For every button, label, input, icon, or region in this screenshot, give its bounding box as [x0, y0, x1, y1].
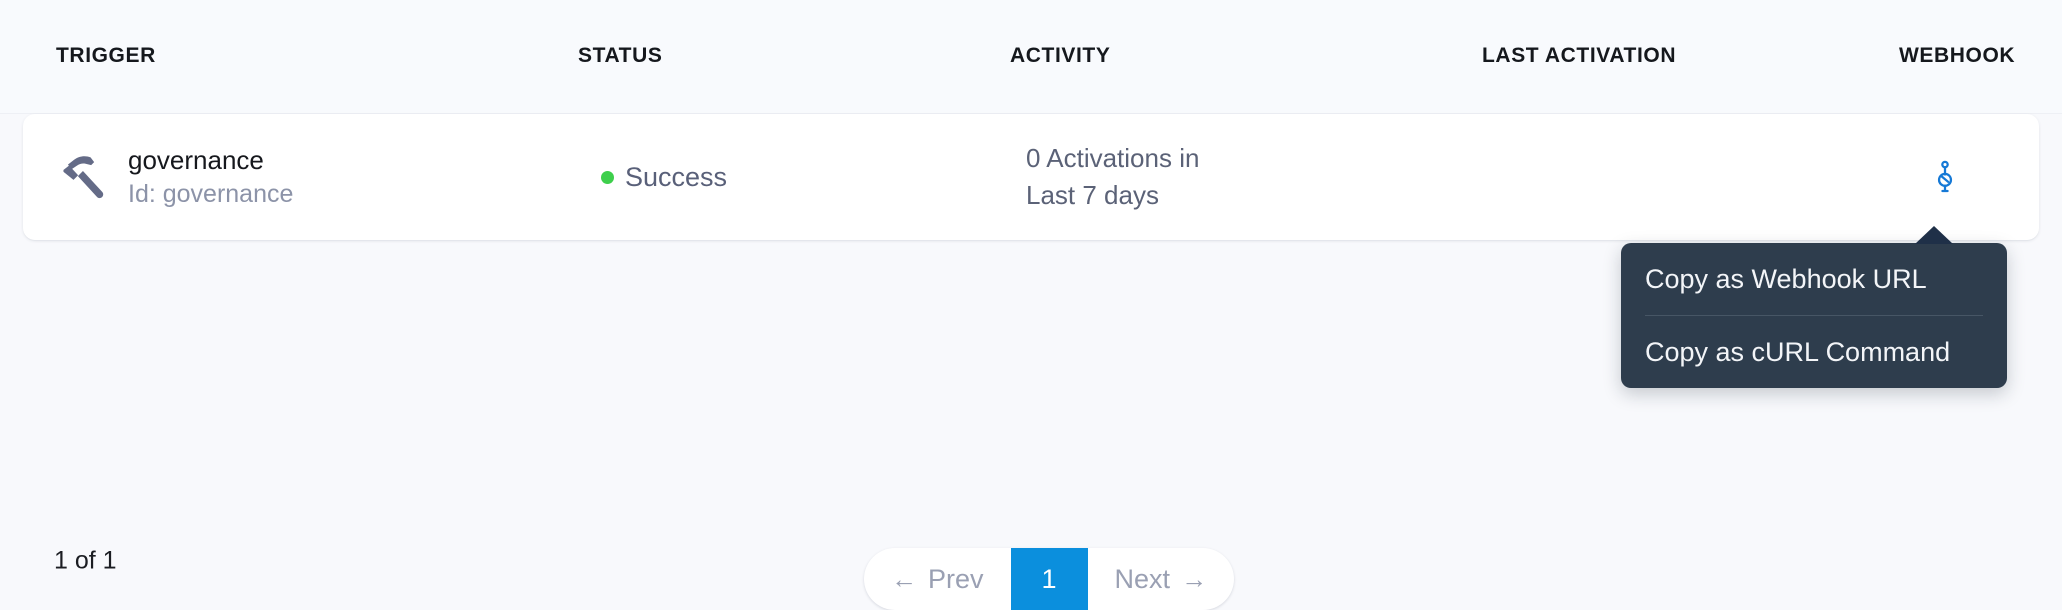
pagination-next-button[interactable]: Next →: [1088, 548, 1235, 610]
table-row[interactable]: governance Id: governance Success 0 Acti…: [23, 114, 2039, 240]
column-header-trigger: TRIGGER: [56, 44, 156, 68]
trigger-name: governance: [128, 143, 293, 177]
webhook-dropdown-menu: Copy as Webhook URL Copy as cURL Command: [1621, 243, 2007, 388]
pagination: ← Prev 1 Next →: [864, 548, 1234, 610]
menu-item-copy-curl-command[interactable]: Copy as cURL Command: [1621, 316, 2007, 388]
column-header-last-activation: LAST ACTIVATION: [1482, 44, 1676, 68]
pagination-prev-label: Prev: [928, 564, 984, 595]
pagination-page-number: 1: [1042, 564, 1057, 595]
webhooks-table-page: TRIGGER STATUS ACTIVITY LAST ACTIVATION …: [0, 0, 2062, 442]
column-header-status: STATUS: [578, 44, 662, 68]
table-header-row: TRIGGER STATUS ACTIVITY LAST ACTIVATION …: [0, 0, 2062, 114]
menu-item-copy-webhook-url[interactable]: Copy as Webhook URL: [1621, 243, 2007, 315]
status-label: Success: [625, 162, 727, 193]
status-cell: Success: [601, 114, 727, 240]
hammer-icon: [56, 149, 112, 205]
column-header-webhook: WEBHOOK: [1899, 44, 2015, 68]
pagination-page-1[interactable]: 1: [1011, 548, 1088, 610]
activity-count: 0 Activations in: [1026, 140, 1199, 177]
column-header-activity: ACTIVITY: [1010, 44, 1110, 68]
pagination-next-label: Next: [1115, 564, 1171, 595]
result-count-label: 1 of 1: [54, 547, 117, 576]
trigger-text-block: governance Id: governance: [128, 143, 293, 211]
webhook-icon[interactable]: [1928, 160, 1962, 194]
dropdown-arrow-icon: [1915, 226, 1953, 244]
activity-period: Last 7 days: [1026, 177, 1199, 214]
status-dot-icon: [601, 171, 614, 184]
trigger-cell: governance Id: governance: [56, 114, 293, 240]
webhook-button[interactable]: [1928, 114, 2008, 240]
pagination-prev-button[interactable]: ← Prev: [864, 548, 1011, 610]
arrow-right-icon: →: [1181, 564, 1207, 595]
arrow-left-icon: ←: [891, 564, 917, 595]
activity-cell: 0 Activations in Last 7 days: [1026, 114, 1199, 240]
trigger-id: Id: governance: [128, 177, 293, 211]
